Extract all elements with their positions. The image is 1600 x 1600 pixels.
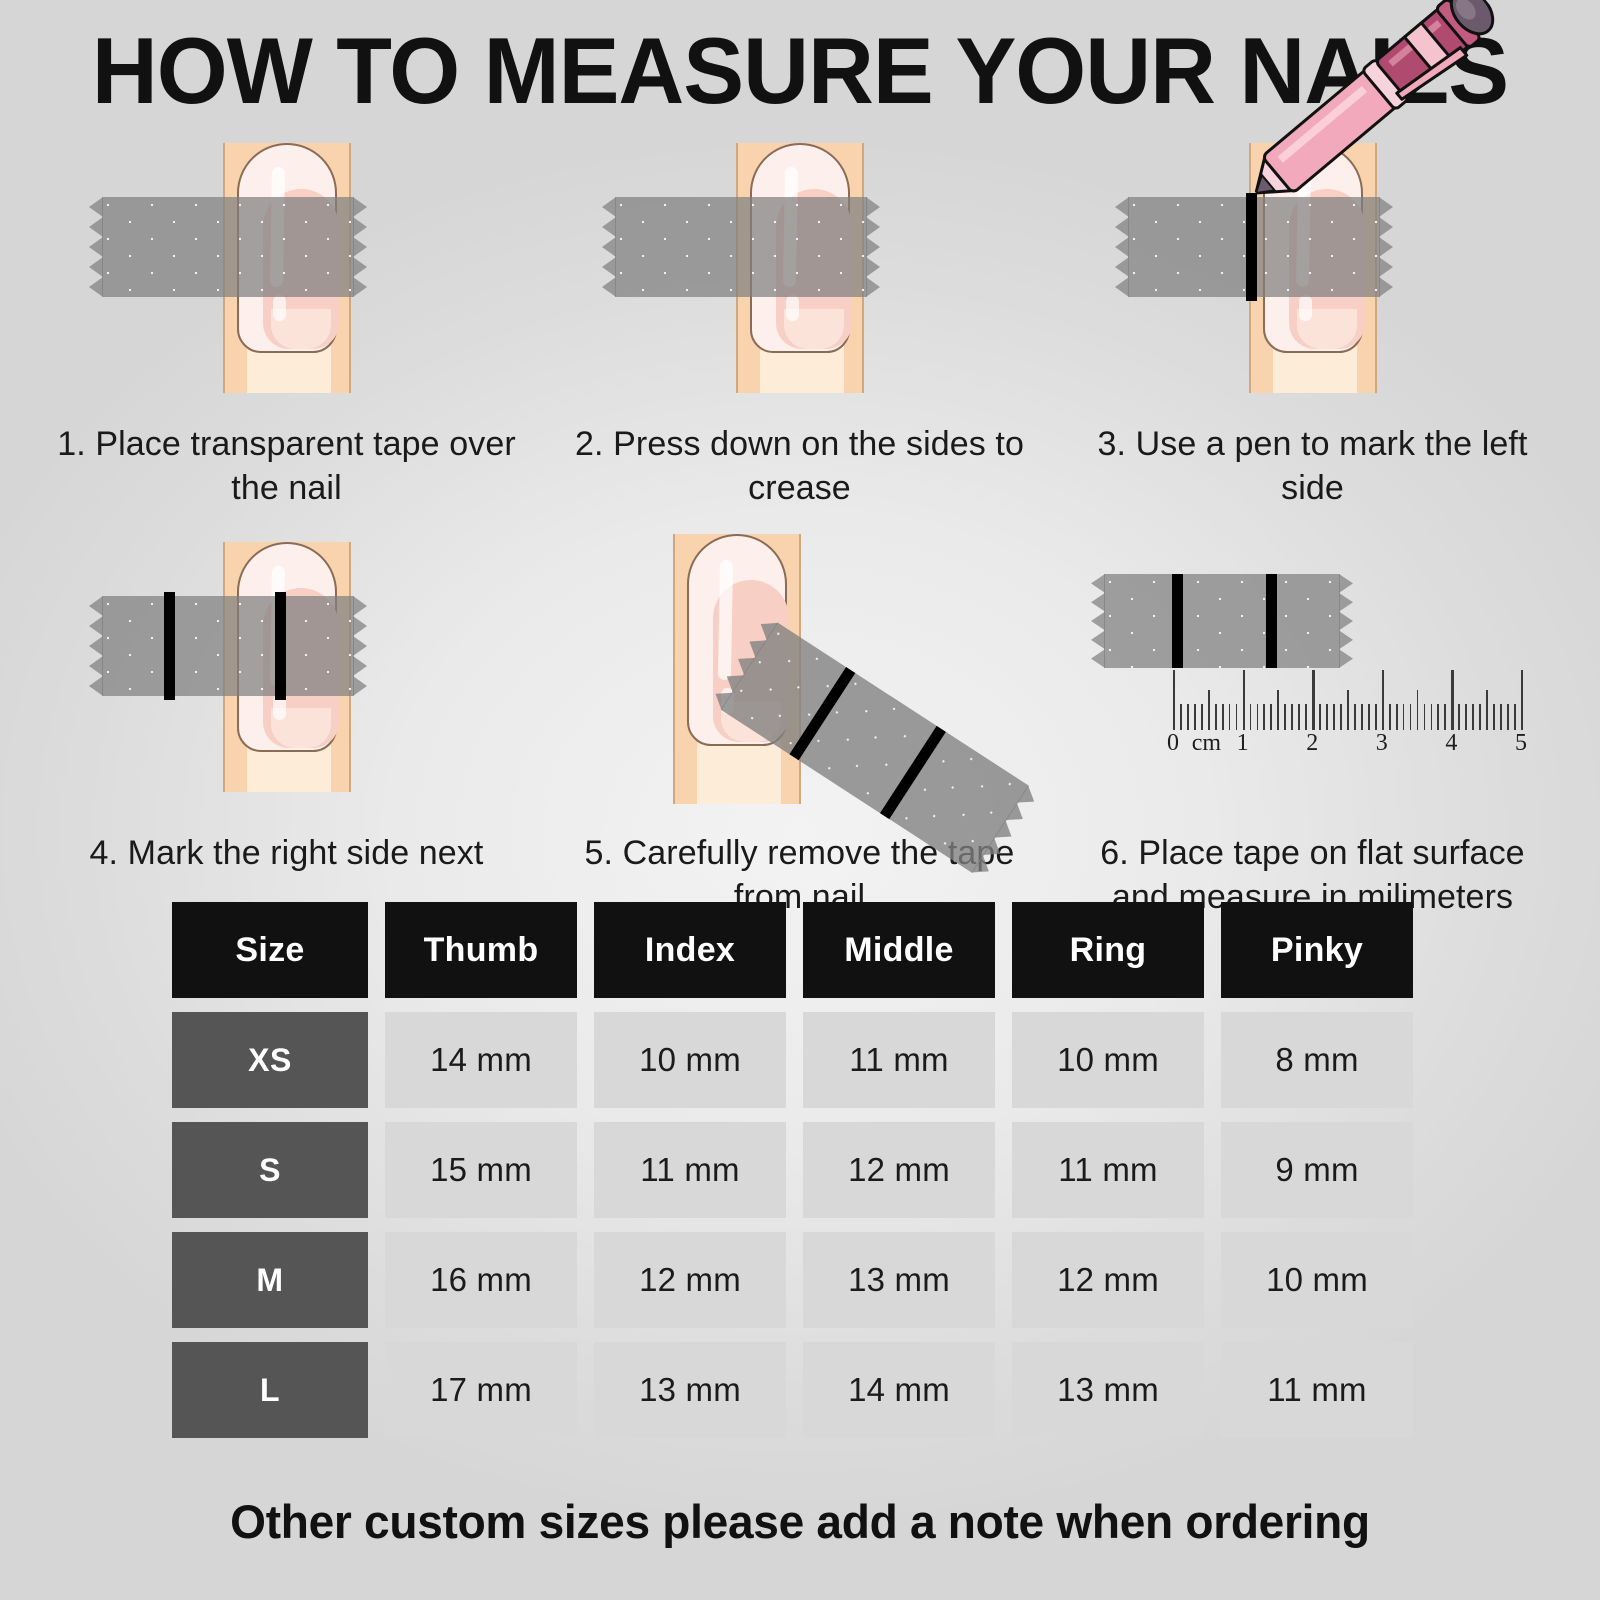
tape-zigzag-right xyxy=(353,596,367,696)
ruler-tick xyxy=(1431,704,1433,730)
ruler-tick xyxy=(1305,704,1307,730)
nail-shine-secondary xyxy=(786,295,799,321)
cell-m-middle: 13 mm xyxy=(803,1232,995,1328)
cell-xs-pinky: 8 mm xyxy=(1221,1012,1413,1108)
cell-xs-thumb: 14 mm xyxy=(385,1012,577,1108)
ruler-tick xyxy=(1507,704,1509,730)
ruler-label-1: 1 xyxy=(1237,730,1249,757)
tape-zigzag-left xyxy=(602,197,616,297)
step-4-illustration xyxy=(30,524,543,824)
ruler-tick xyxy=(1500,704,1502,730)
mark-line-icon xyxy=(1266,574,1277,668)
ruler-tick xyxy=(1437,704,1439,730)
ruler-tick xyxy=(1229,704,1231,730)
ruler-labels: 012345cm xyxy=(1056,730,1569,770)
ruler-tick xyxy=(1354,704,1356,730)
table-row: XS14 mm10 mm11 mm10 mm8 mm xyxy=(172,1012,1447,1108)
ruler-label-3: 3 xyxy=(1376,730,1388,757)
table-row: S15 mm11 mm12 mm11 mm9 mm xyxy=(172,1122,1447,1218)
step-3: 3. Use a pen to mark the left side xyxy=(1056,125,1569,510)
nail-shine-secondary xyxy=(273,295,286,321)
tape-strip-icon xyxy=(1104,574,1340,668)
mark-line-icon xyxy=(275,592,286,700)
cell-m-pinky: 10 mm xyxy=(1221,1232,1413,1328)
mark-line-icon xyxy=(1246,193,1257,301)
table-header-row: SizeThumbIndexMiddleRingPinky xyxy=(172,902,1447,998)
table-row: M16 mm12 mm13 mm12 mm10 mm xyxy=(172,1232,1447,1328)
size-chart-table: SizeThumbIndexMiddleRingPinky XS14 mm10 … xyxy=(172,902,1447,1438)
ruler-tick xyxy=(1514,704,1516,730)
table-body: XS14 mm10 mm11 mm10 mm8 mmS15 mm11 mm12 … xyxy=(172,1012,1447,1438)
ruler-tick xyxy=(1180,704,1182,730)
cell-m-index: 12 mm xyxy=(594,1232,786,1328)
ruler-tick xyxy=(1458,704,1460,730)
ruler-unit-label: cm xyxy=(1192,730,1221,757)
tape-zigzag-right xyxy=(1339,574,1353,668)
ruler-label-2: 2 xyxy=(1306,730,1318,757)
cell-l-middle: 14 mm xyxy=(803,1342,995,1438)
ruler-tick xyxy=(1375,704,1377,730)
step-3-illustration xyxy=(1056,125,1569,415)
tape-texture xyxy=(1104,574,1340,668)
tape-zigzag-left xyxy=(89,197,103,297)
ruler-tick xyxy=(1222,704,1224,730)
size-label-m: M xyxy=(172,1232,368,1328)
cell-l-ring: 13 mm xyxy=(1012,1342,1204,1438)
ruler-tick xyxy=(1472,704,1474,730)
ruler-tick xyxy=(1444,704,1446,730)
ruler-tick xyxy=(1465,704,1467,730)
steps-container: 1. Place transparent tape over the nail xyxy=(30,125,1570,919)
ruler-tick xyxy=(1236,704,1238,730)
ruler-label-4: 4 xyxy=(1445,730,1457,757)
tape-zigzag-left xyxy=(89,596,103,696)
ruler-tick xyxy=(1312,670,1314,730)
nail-shine-secondary xyxy=(1299,295,1312,321)
ruler-label-5: 5 xyxy=(1515,730,1527,757)
ruler-tick xyxy=(1403,704,1405,730)
ruler-ticks xyxy=(1056,668,1569,730)
ruler-tick xyxy=(1250,704,1252,730)
ruler-icon: 012345cm xyxy=(1056,668,1569,788)
step-1-caption: 1. Place transparent tape over the nail xyxy=(52,423,522,510)
ruler-tick xyxy=(1263,704,1265,730)
step-2-illustration xyxy=(543,125,1056,415)
table-row: L17 mm13 mm14 mm13 mm11 mm xyxy=(172,1342,1447,1438)
ruler-tick xyxy=(1215,704,1217,730)
ruler-tick xyxy=(1326,704,1328,730)
cell-s-ring: 11 mm xyxy=(1012,1122,1204,1218)
step-5-illustration xyxy=(543,524,1056,824)
ruler-tick xyxy=(1173,670,1175,730)
cell-l-pinky: 11 mm xyxy=(1221,1342,1413,1438)
ruler-tick xyxy=(1333,704,1335,730)
ruler-tick xyxy=(1291,704,1293,730)
ruler-tick xyxy=(1382,670,1384,730)
cell-s-index: 11 mm xyxy=(594,1122,786,1218)
footer-note: Other custom sizes please add a note whe… xyxy=(16,1494,1584,1549)
size-label-s: S xyxy=(172,1122,368,1218)
step-6: 012345cm 6. Place tape on flat surface a… xyxy=(1056,524,1569,919)
ruler-tick xyxy=(1208,690,1210,730)
ruler-tick xyxy=(1340,704,1342,730)
ruler-tick xyxy=(1284,704,1286,730)
ruler-tick xyxy=(1298,704,1300,730)
ruler-tick xyxy=(1257,704,1259,730)
tape-strip-icon xyxy=(615,197,867,297)
step-5: 5. Carefully remove the tape from nail xyxy=(543,524,1056,919)
table-header-pinky: Pinky xyxy=(1221,902,1413,998)
table-header-index: Index xyxy=(594,902,786,998)
ruler-tick xyxy=(1347,690,1349,730)
cell-s-pinky: 9 mm xyxy=(1221,1122,1413,1218)
step-2-caption: 2. Press down on the sides to crease xyxy=(565,423,1035,510)
ruler-tick xyxy=(1368,704,1370,730)
nail-shine-primary xyxy=(718,560,733,680)
ruler-tick xyxy=(1424,704,1426,730)
tape-texture xyxy=(615,197,867,297)
cell-xs-index: 10 mm xyxy=(594,1012,786,1108)
tape-zigzag-left xyxy=(1091,574,1105,668)
step-4-caption: 4. Mark the right side next xyxy=(52,832,522,876)
ruler-label-0: 0 xyxy=(1167,730,1179,757)
ruler-tick xyxy=(1521,670,1523,730)
ruler-tick xyxy=(1361,704,1363,730)
ruler-tick xyxy=(1417,690,1419,730)
size-label-xs: XS xyxy=(172,1012,368,1108)
cell-l-index: 13 mm xyxy=(594,1342,786,1438)
step-4: 4. Mark the right side next xyxy=(30,524,543,919)
ruler-tick xyxy=(1410,704,1412,730)
tape-strip-icon xyxy=(102,596,354,696)
ruler-tick xyxy=(1243,670,1245,730)
cell-s-middle: 12 mm xyxy=(803,1122,995,1218)
ruler-tick xyxy=(1194,704,1196,730)
table-header-size: Size xyxy=(172,902,368,998)
ruler-tick xyxy=(1389,704,1391,730)
steps-row-2: 4. Mark the right side next xyxy=(30,524,1570,919)
step-6-illustration: 012345cm xyxy=(1056,524,1569,824)
tape-zigzag-right xyxy=(866,197,880,297)
step-2: 2. Press down on the sides to crease xyxy=(543,125,1056,510)
table-header-middle: Middle xyxy=(803,902,995,998)
cell-xs-middle: 11 mm xyxy=(803,1012,995,1108)
ruler-tick xyxy=(1201,704,1203,730)
ruler-tick xyxy=(1270,704,1272,730)
tape-texture xyxy=(102,197,354,297)
cell-m-ring: 12 mm xyxy=(1012,1232,1204,1328)
cell-m-thumb: 16 mm xyxy=(385,1232,577,1328)
tape-zigzag-right xyxy=(353,197,367,297)
tape-zigzag-left xyxy=(1115,197,1129,297)
table-header-ring: Ring xyxy=(1012,902,1204,998)
steps-row-1: 1. Place transparent tape over the nail xyxy=(30,125,1570,510)
tape-zigzag-right xyxy=(1379,197,1393,297)
infographic-page: HOW TO MEASURE YOUR NAILS xyxy=(0,0,1600,1600)
table-header-thumb: Thumb xyxy=(385,902,577,998)
cell-l-thumb: 17 mm xyxy=(385,1342,577,1438)
step-1-illustration xyxy=(30,125,543,415)
size-label-l: L xyxy=(172,1342,368,1438)
mark-line-icon xyxy=(164,592,175,700)
tape-strip-icon xyxy=(102,197,354,297)
step-3-caption: 3. Use a pen to mark the left side xyxy=(1078,423,1548,510)
ruler-tick xyxy=(1486,690,1488,730)
tape-texture xyxy=(102,596,354,696)
mark-line-icon xyxy=(1172,574,1183,668)
ruler-tick xyxy=(1493,704,1495,730)
ruler-tick xyxy=(1479,704,1481,730)
ruler-tick xyxy=(1277,690,1279,730)
cell-s-thumb: 15 mm xyxy=(385,1122,577,1218)
ruler-tick xyxy=(1396,704,1398,730)
ruler-tick xyxy=(1319,704,1321,730)
ruler-tick xyxy=(1187,704,1189,730)
ruler-tick xyxy=(1451,670,1453,730)
cell-xs-ring: 10 mm xyxy=(1012,1012,1204,1108)
step-1: 1. Place transparent tape over the nail xyxy=(30,125,543,510)
